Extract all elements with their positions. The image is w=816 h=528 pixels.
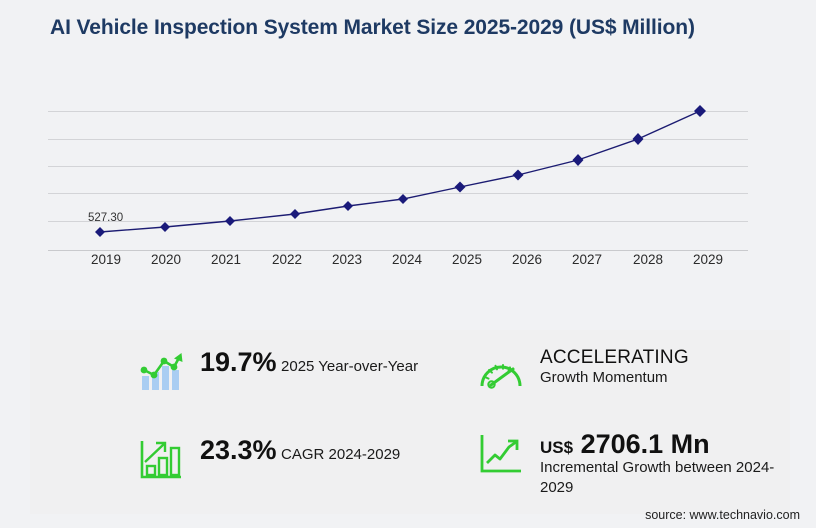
source-attribution: source: www.technavio.com — [645, 508, 800, 522]
series-markers — [95, 105, 706, 237]
x-tick-2027: 2027 — [572, 252, 602, 267]
stat-growth-momentum: ACCELERATING Growth Momentum — [478, 348, 790, 394]
stat-caption: Incremental Growth between 2024-2029 — [540, 459, 774, 495]
stat-text: US$ 2706.1 Mn Incremental Growth between… — [540, 430, 790, 497]
stat-caption: 2025 Year-over-Year — [281, 358, 418, 375]
x-tick-2025: 2025 — [452, 252, 482, 267]
data-point-label-2019: 527.30 — [88, 212, 123, 224]
x-tick-2029: 2029 — [693, 252, 723, 267]
stat-text: ACCELERATING Growth Momentum — [540, 348, 790, 387]
x-tick-2023: 2023 — [332, 252, 362, 267]
stat-text: 23.3% CAGR 2024-2029 — [200, 436, 400, 464]
x-tick-2020: 2020 — [151, 252, 181, 267]
stat-text: 19.7% 2025 Year-over-Year — [200, 348, 418, 376]
stat-amount: 2706.1 Mn — [581, 429, 710, 459]
stat-caption: Growth Momentum — [540, 369, 668, 386]
x-tick-2021: 2021 — [211, 252, 241, 267]
line-chart-arrow-icon — [478, 430, 524, 476]
market-size-infographic: AI Vehicle Inspection System Market Size… — [0, 0, 816, 528]
x-axis-labels: 2019 2020 2021 2022 2023 2024 2025 2026 … — [0, 252, 816, 276]
page-title: AI Vehicle Inspection System Market Size… — [50, 14, 780, 42]
bar-chart-arrow-icon — [138, 436, 184, 482]
x-tick-2028: 2028 — [633, 252, 663, 267]
speedometer-icon — [478, 348, 524, 394]
series-line — [100, 111, 700, 232]
x-tick-2022: 2022 — [272, 252, 302, 267]
stat-value: 19.7% — [200, 347, 277, 377]
stat-year-over-year: 19.7% 2025 Year-over-Year — [138, 348, 418, 394]
bar-trend-up-icon — [138, 348, 184, 394]
x-tick-2019: 2019 — [91, 252, 121, 267]
x-tick-2024: 2024 — [392, 252, 422, 267]
x-tick-2026: 2026 — [512, 252, 542, 267]
stat-unit: US$ — [540, 438, 573, 457]
stat-value: US$ 2706.1 Mn — [540, 429, 710, 459]
stat-value: ACCELERATING — [540, 347, 689, 368]
stat-value: 23.3% — [200, 435, 277, 465]
stat-caption: CAGR 2024-2029 — [281, 446, 400, 463]
stats-panel: 19.7% 2025 Year-over-Year — [30, 330, 790, 514]
stat-cagr: 23.3% CAGR 2024-2029 — [138, 436, 400, 482]
gridlines — [48, 112, 748, 222]
stat-incremental-growth: US$ 2706.1 Mn Incremental Growth between… — [478, 430, 790, 497]
